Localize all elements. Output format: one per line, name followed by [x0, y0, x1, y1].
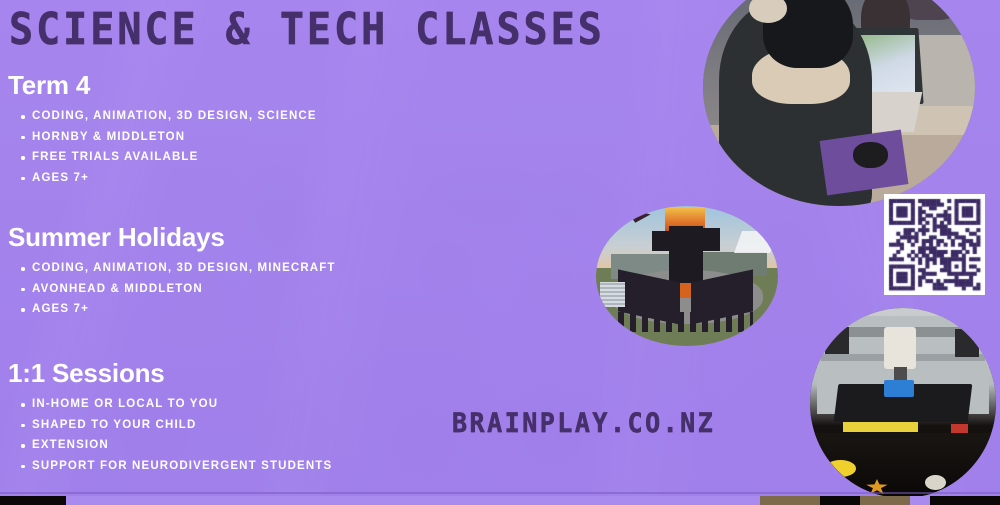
qr-code-canvas	[884, 194, 985, 295]
list-item: AGES 7+	[8, 169, 317, 189]
bullet-list-sessions: IN-HOME OR LOCAL TO YOU SHAPED TO YOUR C…	[8, 395, 332, 476]
website-url[interactable]: BRAINPLAY.CO.NZ	[452, 408, 715, 438]
section-term4: Term 4 CODING, ANIMATION, 3D DESIGN, SCI…	[8, 70, 317, 189]
photo-3d-printer	[810, 308, 996, 498]
list-item: SHAPED TO YOUR CHILD	[8, 416, 332, 436]
photo-minecraft-build	[596, 206, 778, 346]
section-one-to-one-sessions: 1:1 Sessions IN-HOME OR LOCAL TO YOU SHA…	[8, 358, 332, 477]
list-item: CODING, ANIMATION, 3D DESIGN, SCIENCE	[8, 107, 317, 127]
section-heading-term4: Term 4	[8, 70, 317, 100]
section-summer-holidays: Summer Holidays CODING, ANIMATION, 3D DE…	[8, 222, 336, 321]
qr-code[interactable]	[884, 194, 985, 295]
bottom-image-sliver	[0, 496, 1000, 505]
list-item: SUPPORT FOR NEURODIVERGENT STUDENTS	[8, 457, 332, 477]
photo-kids-on-laptops	[703, 0, 975, 206]
list-item: HORNBY & MIDDLETON	[8, 128, 317, 148]
section-heading-summer: Summer Holidays	[8, 222, 336, 252]
bullet-list-summer: CODING, ANIMATION, 3D DESIGN, MINECRAFT …	[8, 259, 336, 320]
list-item: EXTENSION	[8, 436, 332, 456]
list-item: AVONHEAD & MIDDLETON	[8, 280, 336, 300]
bullet-list-term4: CODING, ANIMATION, 3D DESIGN, SCIENCE HO…	[8, 107, 317, 188]
list-item: AGES 7+	[8, 300, 336, 320]
page-title: SCIENCE & TECH CLASSES	[9, 6, 605, 54]
poster-canvas: SCIENCE & TECH CLASSES Term 4 CODING, AN…	[0, 0, 1000, 505]
list-item: IN-HOME OR LOCAL TO YOU	[8, 395, 332, 415]
section-heading-sessions: 1:1 Sessions	[8, 358, 332, 388]
list-item: FREE TRIALS AVAILABLE	[8, 148, 317, 168]
bottom-divider	[0, 492, 1000, 494]
list-item: CODING, ANIMATION, 3D DESIGN, MINECRAFT	[8, 259, 336, 279]
